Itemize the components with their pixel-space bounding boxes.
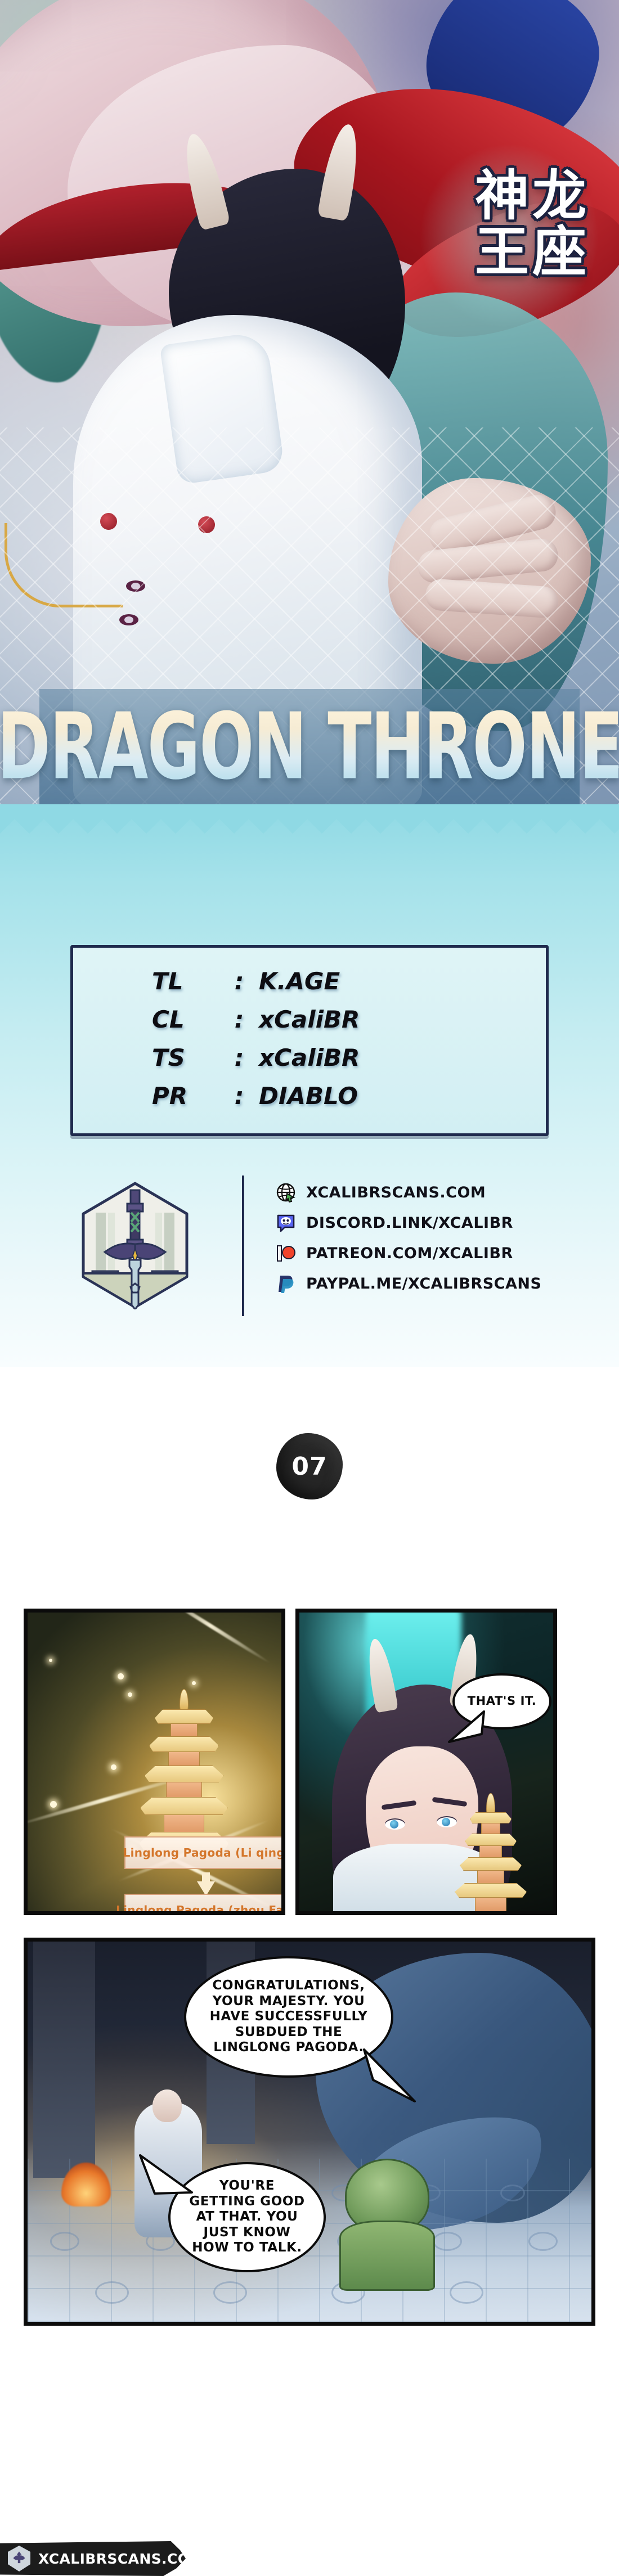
comic-panels: Linglong Pagoda (Li qing) Linglong Pagod… xyxy=(0,1609,619,2326)
discord-icon xyxy=(276,1213,296,1233)
chinese-char-1: 神 xyxy=(475,169,529,223)
credit-role: TL xyxy=(152,969,219,994)
credit-name: DIABLO xyxy=(259,1084,360,1109)
link-discord-label: DISCORD.LINK/XCALIBR xyxy=(306,1214,513,1232)
link-list: XCALIBRSCANS.COM DISCORD.LINK/XCALIBR xyxy=(276,1182,541,1294)
character-eye-left-art xyxy=(385,1818,405,1830)
scanlation-links: XCALIBRSCANS.COM DISCORD.LINK/XCALIBR xyxy=(0,1176,619,1316)
credit-name: xCaliBR xyxy=(259,1046,360,1070)
xcalibr-shield-icon xyxy=(8,2546,30,2572)
credit-name: xCaliBR xyxy=(259,1007,360,1032)
credit-colon: : xyxy=(219,1046,259,1070)
link-discord[interactable]: DISCORD.LINK/XCALIBR xyxy=(276,1213,541,1233)
panel-throne-room: CONGRATULATIONS, YOUR MAJESTY. YOU HAVE … xyxy=(24,1938,595,2326)
site-watermark: XCALIBRSCANS.COM xyxy=(0,2541,186,2576)
speech-tail-icon xyxy=(138,2153,200,2205)
credits-table: TL : K.AGE CL : xCaliBR TS : xCaliBR PR … xyxy=(152,969,360,1109)
chapter-badge: 07 xyxy=(276,1433,343,1499)
zigzag-divider xyxy=(0,804,619,834)
credit-name: K.AGE xyxy=(259,969,360,994)
link-patreon-label: PATREON.COM/XCALIBR xyxy=(306,1245,513,1262)
credit-colon: : xyxy=(219,969,259,994)
pagoda-label-1: Linglong Pagoda (Li qing) xyxy=(124,1836,285,1869)
spark-art xyxy=(118,1673,124,1679)
watermark-label: XCALIBRSCANS.COM xyxy=(38,2551,204,2567)
chapter-divider-section: 07 xyxy=(0,1367,619,1609)
chinese-char-3: 王 xyxy=(475,225,529,279)
credit-role: CL xyxy=(152,1007,219,1032)
mini-pagoda-art xyxy=(443,1793,539,1915)
pillar-art xyxy=(33,1942,95,2178)
chinese-char-4: 座 xyxy=(532,225,586,279)
credits-section: TL : K.AGE CL : xCaliBR TS : xCaliBR PR … xyxy=(0,804,619,1367)
chinese-title-logo: 神 龙 王 座 xyxy=(475,169,586,279)
speech-bubble-thats-it-text: THAT'S IT. xyxy=(468,1694,537,1708)
panel-character: THAT'S IT. xyxy=(295,1609,557,1915)
link-patreon[interactable]: PATREON.COM/XCALIBR xyxy=(276,1243,541,1263)
chinese-char-2: 龙 xyxy=(532,169,586,223)
speech-bubble-youre-getting-good-text: YOU'RE GETTING GOOD AT THAT. YOU JUST KN… xyxy=(189,2178,304,2256)
credit-role: PR xyxy=(152,1084,219,1109)
pagoda-label-1-text: Linglong Pagoda (Li qing) xyxy=(123,1846,285,1859)
series-title: DRAGON THRONE xyxy=(0,701,619,792)
spark-art xyxy=(50,1801,57,1808)
english-title-banner: DRAGON THRONE xyxy=(0,689,619,804)
spark-art xyxy=(49,1659,52,1662)
panel-gap xyxy=(0,1915,619,1938)
credit-colon: : xyxy=(219,1084,259,1109)
globe-icon xyxy=(276,1182,296,1203)
speech-tail-icon xyxy=(447,1709,486,1746)
spark-art xyxy=(192,1681,196,1685)
speech-bubble-congratulations-text: CONGRATULATIONS, YOUR MAJESTY. YOU HAVE … xyxy=(210,1978,368,2056)
link-website[interactable]: XCALIBRSCANS.COM xyxy=(276,1182,541,1203)
turtle-minister-art xyxy=(333,2159,439,2288)
pagoda-label-2: Linglong Pagoda (zhou Fan) xyxy=(124,1894,285,1915)
credit-colon: : xyxy=(219,1007,259,1032)
patreon-icon xyxy=(276,1243,296,1263)
vertical-divider xyxy=(242,1176,244,1316)
emperor-head-art xyxy=(152,2089,182,2122)
chapter-number: 07 xyxy=(291,1452,327,1481)
speech-tail-icon xyxy=(358,2047,420,2110)
spark-art xyxy=(111,1764,116,1770)
spark-art xyxy=(128,1692,132,1697)
link-website-label: XCALIBRSCANS.COM xyxy=(306,1184,486,1201)
credits-box: TL : K.AGE CL : xCaliBR TS : xCaliBR PR … xyxy=(70,945,549,1136)
cover-artwork: 神 龙 王 座 DRAGON THRONE xyxy=(0,0,619,804)
panel-pagoda: Linglong Pagoda (Li qing) Linglong Pagod… xyxy=(24,1609,285,1915)
pagoda-label-2-text: Linglong Pagoda (zhou Fan) xyxy=(116,1903,285,1915)
comic-page: 神 龙 王 座 DRAGON THRONE TL : K.AGE CL : xC… xyxy=(0,0,619,2576)
xcalibr-logo xyxy=(79,1181,191,1309)
panel-row-1: Linglong Pagoda (Li qing) Linglong Pagod… xyxy=(0,1609,619,1915)
link-paypal-label: PAYPAL.ME/XCALIBRSCANS xyxy=(306,1275,541,1292)
credit-role: TS xyxy=(152,1046,219,1070)
link-paypal[interactable]: PAYPAL.ME/XCALIBRSCANS xyxy=(276,1273,541,1294)
paypal-icon xyxy=(276,1273,296,1294)
